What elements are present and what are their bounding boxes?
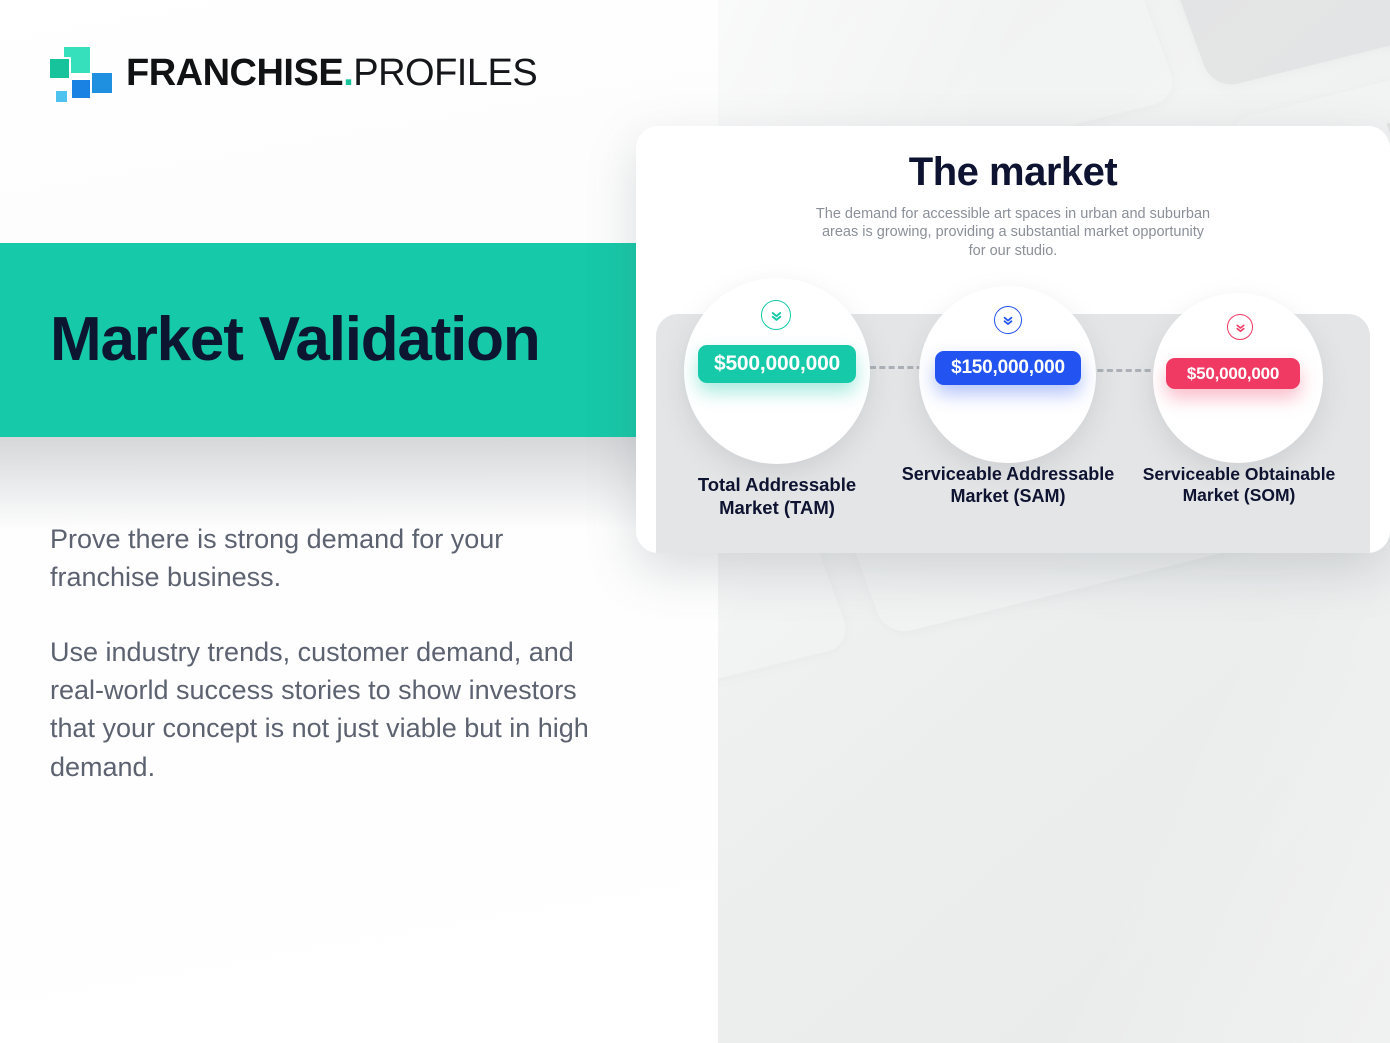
bg-slide-item: Commissioned Art Sales [718,0,960,1]
market-card-header: The market The demand for accessible art… [636,126,1390,260]
logo-square-2 [48,57,71,80]
market-card: The market The demand for accessible art… [636,126,1390,553]
band-shadow [0,437,636,529]
logo-square-3 [90,71,114,95]
logo-square-5 [54,89,69,104]
hero-title-band: Market Validation [0,243,636,437]
market-inner-panel [656,314,1370,553]
left-panel: FRANCHISE.PROFILES Market Validation Pro… [0,0,718,1043]
market-card-title: The market [636,150,1390,195]
slide-canvas: Lack of Accessibility High Cost Limited … [0,0,1390,1043]
hero-body-copy: Prove there is strong demand for your fr… [50,520,590,786]
brand-name-dot: . [343,52,353,94]
logo-mark-icon [48,45,108,101]
brand-logo: FRANCHISE.PROFILES [48,45,537,101]
brand-name-bold: FRANCHISE [126,52,343,94]
market-card-subtitle: The demand for accessible art spaces in … [813,205,1213,260]
hero-paragraph-2: Use industry trends, customer demand, an… [50,633,590,786]
page-title: Market Validation [50,309,540,371]
hero-paragraph-1: Prove there is strong demand for your fr… [50,520,590,597]
brand-wordmark: FRANCHISE.PROFILES [126,52,537,95]
brand-name-thin: PROFILES [353,52,537,94]
logo-square-4 [70,78,92,100]
